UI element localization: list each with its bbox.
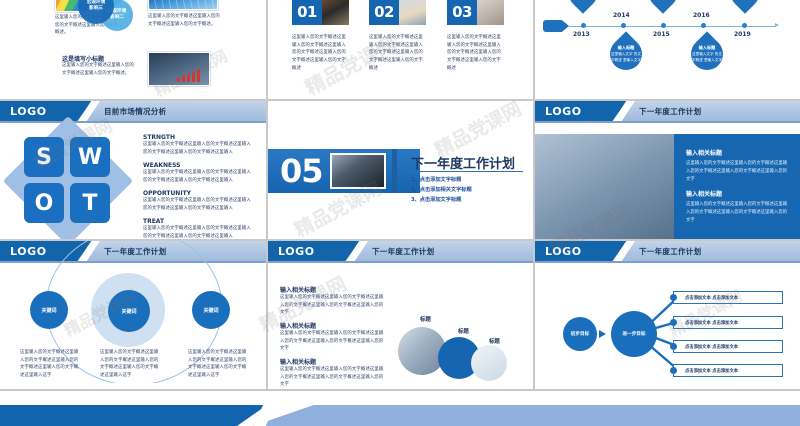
circle-label-1: 标题: [420, 315, 431, 323]
header-title: 下一年度工作计划: [372, 241, 434, 261]
swot-label-weakness: WEAKNESS: [143, 162, 251, 169]
branch-box-1[interactable]: 点击添加文本 点击添加文本: [673, 291, 783, 304]
slide-timeline[interactable]: 2013 2014 2015 2016 2019 的文字概述这 里输入文字 的文…: [534, 0, 800, 100]
header-underline: [0, 121, 266, 123]
timeline-dot-2014: [621, 23, 626, 28]
section-bullet-1: 1、点击添加文字标题: [411, 176, 461, 183]
text-block-3: 输入相关标题 这里输入您的文字概述这里输入您的文字概述这里输入您的文字概述这里输…: [280, 357, 385, 389]
branch-dot-2: [670, 319, 677, 326]
branch-box-2[interactable]: 点击添加文本 点击添加文本: [673, 316, 783, 329]
slide-macro-environment[interactable]: 这里输入您的文字概述这里输入您的文字概述这里输入您的文字概述。 宏观环境影响一 …: [0, 0, 267, 100]
drop-below-1-body: 这里输入文字 的文字概述 里输入文字: [610, 52, 642, 63]
timeline-drop-below-1[interactable]: 输入标题 这里输入文字 的文字概述 里输入文字: [603, 31, 648, 76]
slide-header: LOGO 下一年度工作计划: [268, 241, 533, 261]
text-block-1-title: 输入相关标题: [280, 285, 385, 294]
text-block-1: 输入相关标题 这里输入您的文字概述这里输入您的文字概述这里输入您的文字概述这里输…: [280, 285, 385, 317]
timeline-drop-above-1[interactable]: 的文字概述这 里输入文字: [563, 0, 603, 14]
slide-header: LOGO 目前市场情况分析: [0, 101, 266, 121]
swot-body-strength: 这里输入您的文字概述这里输入您的文字概述这里输入您的文字概述这里输入您的文字概述…: [143, 141, 251, 156]
card-01-image: [322, 0, 349, 25]
swot-cell-w[interactable]: W: [70, 137, 110, 177]
section-bullet-2: 2、点击添加相关文字标题: [411, 186, 472, 193]
swot-body-treat: 这里输入您的文字概述这里输入您的文字概述这里输入您的文字概述这里输入您的文字概述…: [143, 225, 251, 240]
plane-photo: [148, 0, 218, 10]
timeline-dot-2019: [742, 23, 747, 28]
slide-three-numbered-cards[interactable]: 01 这里输入您的文字概述这里输入您的文字概述这里输入您的文字概述这里输入您的文…: [267, 0, 534, 100]
arrow-icon: [599, 330, 606, 338]
card-02-number: 02: [369, 0, 399, 25]
drop-below-2: 输入标题 这里输入文字 的文字概述 里输入文字: [691, 45, 723, 63]
header-underline: [535, 121, 800, 123]
card-03-body: 这里输入您的文字概述这里输入您的文字概述这里输入您的文字概述这里输入您的文字概述…: [447, 34, 505, 73]
branch-dot-4: [670, 367, 677, 374]
header-title: 下一年度工作计划: [639, 101, 701, 121]
card-02-image: [399, 0, 426, 25]
circle-label-2: 标题: [458, 327, 469, 335]
drop-below-2-title: 输入标题: [691, 45, 723, 51]
timeline-dot-2016: [701, 23, 706, 28]
swot-cell-t[interactable]: T: [70, 183, 110, 223]
swot-diagram: S W O T: [18, 131, 118, 231]
timeline-year-2015: 2015: [653, 31, 670, 38]
ppt-template-preview: 这里输入您的文字概述这里输入您的文字概述这里输入您的文字概述。 宏观环境影响一 …: [0, 0, 800, 426]
panel-block-2-title: 输入相关标题: [686, 189, 791, 198]
text-block-2-title: 输入相关标题: [280, 321, 385, 330]
panel-block-2: 输入相关标题 这里输入您的文字概述这里输入您的文字概述这里输入您的文字概述这里输…: [686, 189, 791, 225]
panel-block-2-body: 这里输入您的文字概述这里输入您的文字概述这里输入您的文字概述这里输入您的文字概述…: [686, 201, 791, 225]
text-block-2: 输入相关标题 这里输入您的文字概述这里输入您的文字概述这里输入您的文字概述这里输…: [280, 321, 385, 353]
swot-item-treat: TREAT 这里输入您的文字概述这里输入您的文字概述这里输入您的文字概述这里输入…: [143, 218, 251, 240]
info-panel: 输入相关标题 这里输入您的文字概述这里输入您的文字概述这里输入您的文字概述这里输…: [674, 134, 800, 240]
panel-block-1: 输入相关标题 这里输入您的文字概述这里输入您的文字概述这里输入您的文字概述这里输…: [686, 148, 791, 184]
circle-label-3: 标题: [489, 337, 500, 345]
slide-header: LOGO 下一年度工作计划: [535, 101, 800, 121]
panel-block-1-title: 输入相关标题: [686, 148, 791, 157]
keyword-body-right: 这里输入您的文字概述这里输入您的文字概述这里输入您的文字概述这里输入您的文字概述…: [188, 349, 250, 380]
closing-dark-band: [0, 405, 267, 426]
swot-diamond-backdrop: [3, 116, 133, 240]
sub-body: 这里输入您的文字概述这里输入您的文字概述这里输入您的文字概述。: [62, 62, 136, 77]
header-underline: [268, 261, 533, 263]
drop-below-2-body: 这里输入文字 的文字概述 里输入文字: [691, 52, 723, 63]
logo-badge[interactable]: LOGO: [0, 101, 92, 121]
drop-below-1-title: 输入标题: [610, 45, 642, 51]
globe-photo: [330, 153, 386, 189]
swot-body-weakness: 这里输入您的文字概述这里输入您的文字概述这里输入您的文字概述这里输入您的文字概述…: [143, 169, 251, 184]
keyword-circle-right[interactable]: 关键词: [192, 291, 230, 329]
center-node[interactable]: 进一步目标: [611, 311, 657, 357]
swot-label-opportunity: OPPORTUNITY: [143, 190, 251, 197]
swot-cell-o[interactable]: O: [24, 183, 64, 223]
slide-section-divider[interactable]: 05 下一年度工作计划 1、点击添加文字标题 2、点击添加相关文字标题 3、点击…: [267, 100, 534, 240]
timeline-year-2019: 2019: [734, 31, 751, 38]
panel-block-1-body: 这里输入您的文字概述这里输入您的文字概述这里输入您的文字概述这里输入您的文字概述…: [686, 160, 791, 184]
card-01-number: 01: [292, 0, 322, 25]
timeline-year-2013: 2013: [573, 31, 590, 38]
text-block-1-body: 这里输入您的文字概述这里输入您的文字概述这里输入您的文字概述这里输入您的文字概述…: [280, 294, 385, 317]
slide-photo-with-panel[interactable]: LOGO 下一年度工作计划 输入相关标题 这里输入您的文字概述这里输入您的文字概…: [534, 100, 800, 240]
section-number: 05: [280, 153, 323, 189]
photo-circle-3[interactable]: [471, 345, 507, 381]
timeline-drop-above-3[interactable]: 的文字概述这 里输入文字: [725, 0, 765, 14]
header-title: 目前市场情况分析: [104, 101, 166, 121]
timeline-year-2016: 2016: [693, 12, 710, 19]
text-block-3-body: 这里输入您的文字概述这里输入您的文字概述这里输入您的文字概述这里输入您的文字概述…: [280, 366, 385, 389]
section-rule: [411, 171, 523, 172]
swot-item-weakness: WEAKNESS 这里输入您的文字概述这里输入您的文字概述这里输入您的文字概述这…: [143, 162, 251, 184]
branch-dot-3: [670, 343, 677, 350]
keyword-body-center: 这里输入您的文字概述这里输入您的文字概述这里输入您的文字概述这里输入您的文字概述…: [100, 349, 162, 380]
timeline-drop-above-2[interactable]: 的文字概述这 里输入文字: [643, 0, 683, 14]
slide-three-keyword-circles[interactable]: LOGO 下一年度工作计划 关键词 关键词 关键词 这里输入您的文字概述这里输入…: [0, 240, 267, 390]
slide-grid: 这里输入您的文字概述这里输入您的文字概述这里输入您的文字概述。 宏观环境影响一 …: [0, 0, 800, 426]
section-title: 下一年度工作计划: [411, 153, 515, 172]
text-block-2-body: 这里输入您的文字概述这里输入您的文字概述这里输入您的文字概述这里输入您的文字概述…: [280, 330, 385, 353]
closing-light-band: [221, 405, 800, 426]
timeline-drop-below-2[interactable]: 输入标题 这里输入文字 的文字概述 里输入文字: [684, 31, 729, 76]
text-block-3-title: 输入相关标题: [280, 357, 385, 366]
section-bullet-3: 3、点击添加文字标题: [411, 196, 461, 203]
slide-goal-mindmap[interactable]: LOGO 下一年度工作计划 初步目标 进一步目标 点击添加文本 点击添加文本 点…: [534, 240, 800, 390]
drop-below-1: 输入标题 这里输入文字 的文字概述 里输入文字: [610, 45, 642, 63]
section-accent-bar: [392, 149, 397, 193]
right-caption: 这里输入您的文字概述这里输入您的文字概述这里输入您的文字概述。: [148, 13, 220, 28]
bubble-3-text: 宏观环境影响三: [87, 0, 105, 12]
timeline-dot-2013: [581, 23, 586, 28]
timeline-dot-2015: [661, 23, 666, 28]
swot-item-strength: STRNGTH 这里输入您的文字概述这里输入您的文字概述这里输入您的文字概述这里…: [143, 134, 251, 156]
card-03-number: 03: [447, 0, 477, 25]
branch-box-3[interactable]: 点击添加文本 点击添加文本: [673, 340, 783, 353]
chart-photo: [148, 52, 210, 86]
card-01-body: 这里输入您的文字概述这里输入您的文字概述这里输入您的文字概述这里输入您的文字概述…: [292, 34, 350, 73]
timeline-start-flag: [543, 20, 569, 32]
slide-swot-analysis[interactable]: LOGO 目前市场情况分析 S W O T STRNGTH 这里输入您的文字概述…: [0, 100, 267, 240]
timeline-arrow-icon: [775, 23, 779, 27]
keyword-body-left: 这里输入您的文字概述这里输入您的文字概述这里输入您的文字概述这里输入您的文字概述…: [20, 349, 82, 380]
logo-badge[interactable]: LOGO: [535, 101, 627, 121]
keyword-circle-center[interactable]: 关键词: [108, 290, 150, 332]
swot-cell-s[interactable]: S: [24, 137, 64, 177]
timeline-year-2014: 2014: [613, 12, 630, 19]
meeting-hands-photo: [535, 134, 674, 240]
swot-item-opportunity: OPPORTUNITY 这里输入您的文字概述这里输入您的文字概述这里输入您的文字…: [143, 190, 251, 212]
swot-label-strength: STRNGTH: [143, 134, 251, 141]
card-03-image: [477, 0, 504, 25]
branch-dot-1: [670, 294, 677, 301]
slide-overlapping-photo-circles[interactable]: LOGO 下一年度工作计划 输入相关标题 这里输入您的文字概述这里输入您的文字概…: [267, 240, 534, 390]
keyword-circle-left[interactable]: 关键词: [30, 291, 68, 329]
start-node[interactable]: 初步目标: [563, 317, 597, 351]
swot-label-treat: TREAT: [143, 218, 251, 225]
card-02-body: 这里输入您的文字概述这里输入您的文字概述这里输入您的文字概述这里输入您的文字概述…: [369, 34, 427, 73]
branch-box-4[interactable]: 点击添加文本 点击添加文本: [673, 364, 783, 377]
logo-badge[interactable]: LOGO: [268, 241, 360, 261]
slide-closing-banner[interactable]: [0, 390, 800, 426]
swot-body-opportunity: 这里输入您的文字概述这里输入您的文字概述这里输入您的文字概述这里输入您的文字概述…: [143, 197, 251, 212]
